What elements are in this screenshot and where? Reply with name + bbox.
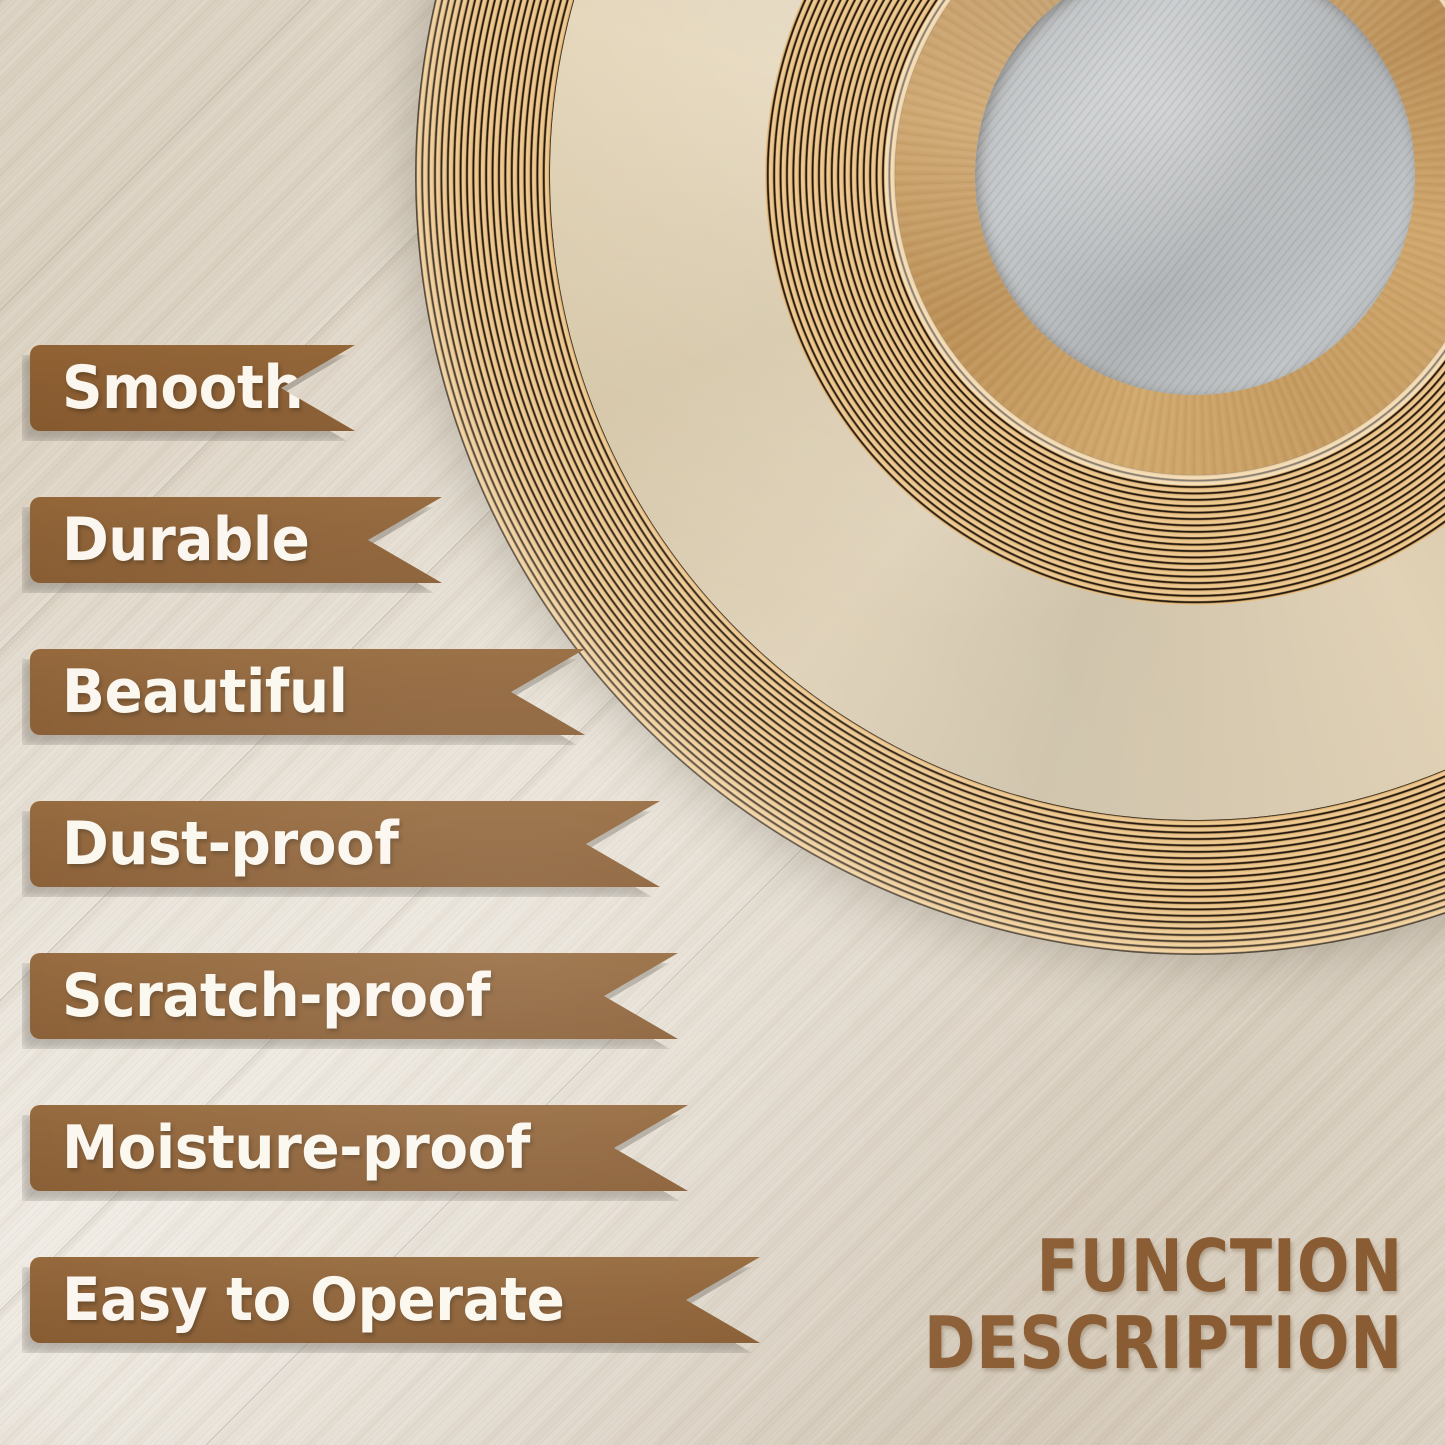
heading-line-2: DESCRIPTION [924,1305,1403,1383]
feature-banner-label: Durable [30,510,309,570]
feature-banner-label: Scratch-proof [30,966,490,1026]
feature-banner-label: Beautiful [30,662,347,722]
feature-banner-label: Easy to Operate [30,1270,564,1330]
heading-line-1: FUNCTION [924,1228,1403,1306]
feature-banner: Beautiful [30,649,585,735]
feature-banner-ribbon: Smooth [30,345,355,431]
feature-banner-ribbon: Dust-proof [30,801,660,887]
feature-banner-ribbon: Beautiful [30,649,585,735]
feature-banner-label: Dust-proof [30,814,398,874]
feature-banner-label: Smooth [30,358,303,418]
feature-banner: Moisture-proof [30,1105,688,1191]
feature-banner: Durable [30,497,442,583]
feature-banner: Smooth [30,345,355,431]
feature-banner-ribbon: Scratch-proof [30,953,678,1039]
product-feature-image: SmoothDurableBeautifulDust-proofScratch-… [0,0,1445,1445]
feature-banner: Dust-proof [30,801,660,887]
feature-banner-ribbon: Durable [30,497,442,583]
feature-banner-label: Moisture-proof [30,1118,530,1178]
feature-banner: Easy to Operate [30,1257,760,1343]
feature-banner-ribbon: Easy to Operate [30,1257,760,1343]
feature-banner: Scratch-proof [30,953,678,1039]
function-description-heading: FUNCTION DESCRIPTION [924,1228,1403,1384]
feature-banner-ribbon: Moisture-proof [30,1105,688,1191]
